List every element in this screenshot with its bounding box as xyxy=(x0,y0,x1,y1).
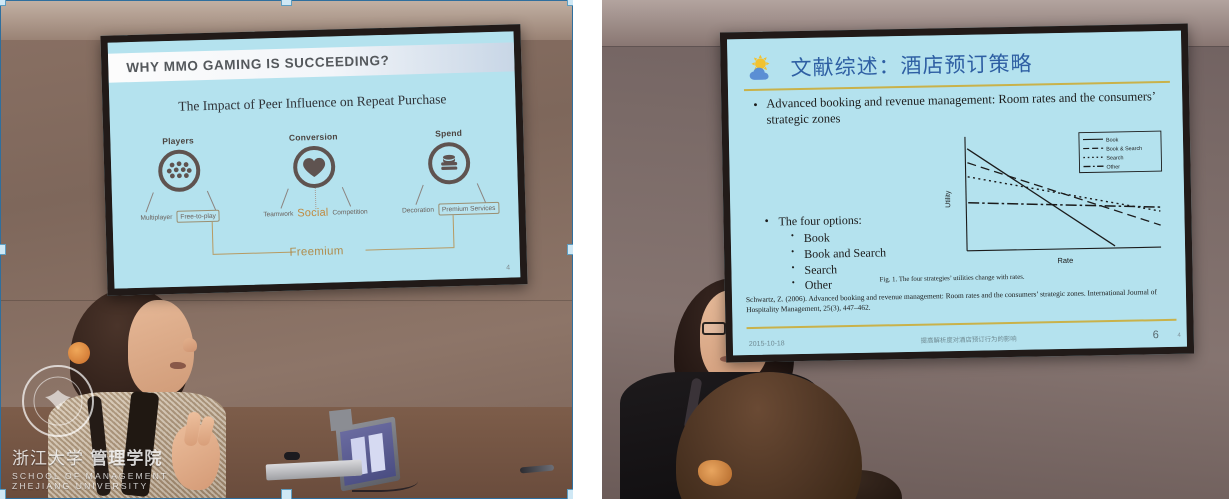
screen-frame: 文献综述：酒店预订策略 • Advanced booking and reven… xyxy=(720,24,1194,363)
slide-heading: The Impact of Peer Influence on Repeat P… xyxy=(109,89,515,116)
heart-icon xyxy=(293,145,336,188)
nose xyxy=(183,338,197,352)
resize-handle-top-left[interactable] xyxy=(0,0,6,6)
option-item: Book xyxy=(791,229,886,247)
svg-text:Other: Other xyxy=(1106,164,1120,170)
hair-tie xyxy=(68,342,90,364)
slide-title: 文献综述：酒店预订策略 xyxy=(790,48,1033,83)
hair-clip xyxy=(698,460,732,486)
bullet-dot: • xyxy=(753,97,758,113)
left-photo[interactable]: WHY MMO GAMING IS SUCCEEDING? The Impact… xyxy=(0,0,573,499)
svg-text:Book: Book xyxy=(1106,137,1119,143)
figure-caption: Fig. 1. The four strategies’ utilities c… xyxy=(880,271,1170,284)
column-caption: Conversion xyxy=(254,130,372,143)
projection-screen-right: 文献综述：酒店预订策略 • Advanced booking and reven… xyxy=(720,24,1194,363)
slide-title-row: 文献综述：酒店预订策略 xyxy=(745,45,1167,83)
slide-title: WHY MMO GAMING IS SUCCEEDING? xyxy=(126,53,389,75)
slide-columns: Players xyxy=(110,126,518,227)
column-caption: Spend xyxy=(390,127,508,140)
utility-rate-line-chart: Utility Rate Book Book & Search Search O xyxy=(937,127,1170,271)
options-lead: The four options: xyxy=(764,212,885,229)
four-options-list: The four options: Book Book and Search S… xyxy=(764,212,887,295)
svg-text:Search: Search xyxy=(1106,155,1123,161)
remote-clicker xyxy=(284,452,300,460)
footer-rule xyxy=(747,319,1177,329)
resize-handle-top-right[interactable] xyxy=(567,0,573,6)
column-spend: Spend xyxy=(390,127,510,220)
resize-handle-bottom-center[interactable] xyxy=(281,489,292,499)
sublabel-left: Multiplayer xyxy=(140,213,172,221)
freemium-label: Freemium xyxy=(113,240,519,263)
projection-screen-left: WHY MMO GAMING IS SUCCEEDING? The Impact… xyxy=(100,24,527,296)
right-photo[interactable]: 文献综述：酒店预订策略 • Advanced booking and reven… xyxy=(602,0,1229,499)
coins-stack-icon xyxy=(428,142,471,185)
slide-mmo-gaming: WHY MMO GAMING IS SUCCEEDING? The Impact… xyxy=(108,31,521,288)
footer-center-text: 提高解析度对酒店预订行为的影响 xyxy=(785,331,1153,347)
wall-seam xyxy=(0,300,573,301)
column-conversion: Conversion Teamwork Soc xyxy=(254,130,374,223)
mouth xyxy=(170,362,186,369)
sublabel-center: Social xyxy=(297,207,328,220)
slide-footer: 2015-10-18 提高解析度对酒店预订行为的影响 6 xyxy=(749,329,1175,349)
composite-image: WHY MMO GAMING IS SUCCEEDING? The Impact… xyxy=(0,0,1229,499)
svg-text:Utility: Utility xyxy=(945,190,952,208)
sublabel-left: Teamwork xyxy=(263,210,293,218)
slide-page-number: 4 xyxy=(506,265,510,272)
footer-corner-mark: 4 xyxy=(1177,333,1180,339)
column-players: Players xyxy=(119,134,239,227)
slide-bullet-text: • Advanced booking and revenue managemen… xyxy=(766,88,1157,127)
resize-handle-bottom-right[interactable] xyxy=(567,489,573,499)
sun-cloud-icon xyxy=(745,54,783,81)
slide-literature-review: 文献综述：酒店预订策略 • Advanced booking and reven… xyxy=(727,31,1187,356)
resize-handle-middle-right[interactable] xyxy=(567,244,573,255)
players-group-icon xyxy=(157,149,200,192)
eyeglasses-left-lens xyxy=(702,322,726,335)
option-item: Book and Search xyxy=(791,245,886,263)
resize-handle-middle-left[interactable] xyxy=(0,244,6,255)
document-camera xyxy=(329,409,353,431)
sublabel-left: Decoration xyxy=(402,206,434,214)
resize-handle-top-center[interactable] xyxy=(281,0,292,6)
footer-date: 2015-10-18 xyxy=(749,340,785,348)
resize-handle-bottom-left[interactable] xyxy=(0,489,6,499)
svg-text:Book & Search: Book & Search xyxy=(1106,146,1142,153)
footer-page-number: 6 xyxy=(1153,329,1159,341)
freemium-bracket: Freemium xyxy=(113,213,520,278)
svg-text:Rate: Rate xyxy=(1057,256,1073,265)
option-item: Search xyxy=(791,261,886,279)
column-caption: Players xyxy=(119,134,237,147)
slide-title-bar: WHY MMO GAMING IS SUCCEEDING? xyxy=(108,42,515,82)
screen-frame: WHY MMO GAMING IS SUCCEEDING? The Impact… xyxy=(100,24,527,296)
sublabel-right: Competition xyxy=(332,208,367,216)
